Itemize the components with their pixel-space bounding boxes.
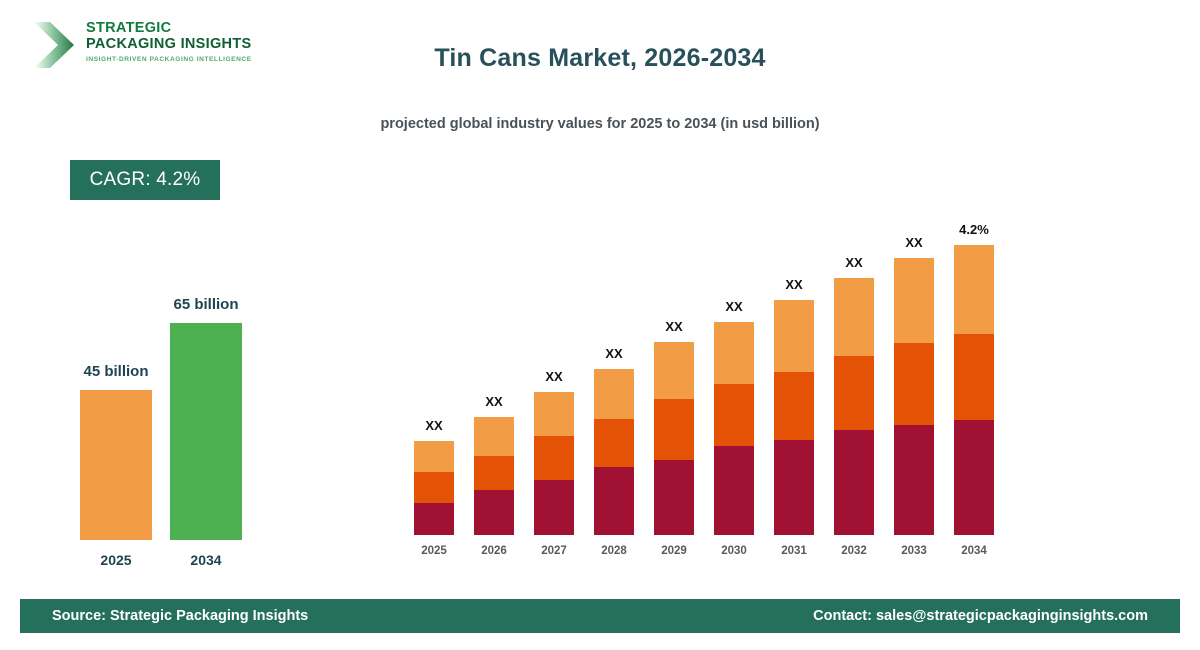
stacked-bar-value-label: XX — [384, 418, 484, 433]
footer-bar: Source: Strategic Packaging Insights Con… — [20, 599, 1180, 633]
stacked-bar-segment — [594, 369, 634, 419]
stacked-bar-value-label: 4.2% — [924, 222, 1024, 237]
stacked-bar-segment — [894, 343, 934, 425]
stacked-bar-value-label: XX — [864, 235, 964, 250]
comparison-value-label: 65 billion — [130, 296, 282, 313]
stacked-bar-segment — [954, 334, 994, 420]
stacked-bar-value-label: XX — [804, 255, 904, 270]
stacked-bar-value-label: XX — [684, 299, 784, 314]
stacked-bar-column: XX — [534, 392, 574, 535]
stacked-bar-segment — [474, 490, 514, 535]
comparison-bar — [80, 390, 152, 540]
stacked-bar-segment — [654, 399, 694, 460]
stacked-bar-value-label: XX — [564, 346, 664, 361]
stacked-bar-column: XX — [594, 369, 634, 535]
stacked-bar-column: 4.2% — [954, 245, 994, 535]
stacked-bar-value-label: XX — [744, 277, 844, 292]
comparison-chart: 45 billion202565 billion2034 — [50, 300, 300, 570]
stacked-bar-segment — [534, 436, 574, 480]
stacked-bar-segment — [654, 460, 694, 535]
cagr-badge: CAGR: 4.2% — [70, 160, 220, 200]
footer-contact: Contact: sales@strategicpackaginginsight… — [813, 599, 1148, 633]
stacked-bar-segment — [714, 384, 754, 446]
stacked-bar-value-label: XX — [504, 369, 604, 384]
stacked-bar-segment — [774, 372, 814, 440]
stacked-bar-segment — [474, 456, 514, 490]
stacked-bar-column: XX — [414, 441, 454, 535]
stacked-bar-year-label: 2034 — [924, 545, 1024, 557]
stacked-bar-segment — [714, 446, 754, 535]
stacked-bar-segment — [834, 430, 874, 535]
stacked-bar-segment — [534, 480, 574, 535]
comparison-year-label: 2034 — [170, 552, 242, 568]
stacked-bar-segment — [654, 342, 694, 399]
comparison-year-label: 2025 — [80, 552, 152, 568]
stacked-bar-value-label: XX — [624, 319, 724, 334]
stacked-bar-column: XX — [654, 342, 694, 535]
stacked-bar-value-label: XX — [444, 394, 544, 409]
stacked-bar-segment — [414, 472, 454, 503]
comparison-bar — [170, 323, 242, 540]
stacked-bar-column: XX — [474, 417, 514, 535]
stacked-bar-segment — [594, 419, 634, 467]
stacked-bar-segment — [834, 278, 874, 356]
infographic-canvas: STRATEGIC PACKAGING INSIGHTS INSIGHT-DRI… — [0, 0, 1200, 650]
stacked-bar-segment — [474, 417, 514, 456]
stacked-bar-column: XX — [774, 300, 814, 535]
stacked-bar-segment — [774, 300, 814, 372]
stacked-bar-segment — [774, 440, 814, 535]
stacked-forecast-chart: XX2025XX2026XX2027XX2028XX2029XX2030XX20… — [400, 200, 1020, 560]
stacked-bar-segment — [894, 425, 934, 535]
page-title: Tin Cans Market, 2026-2034 — [0, 44, 1200, 73]
stacked-bar-segment — [414, 503, 454, 535]
stacked-bar-segment — [834, 356, 874, 430]
stacked-bar-segment — [534, 392, 574, 436]
brand-name-line1: STRATEGIC — [86, 21, 252, 37]
footer-source: Source: Strategic Packaging Insights — [52, 599, 308, 633]
stacked-bar-column: XX — [834, 278, 874, 535]
stacked-bar-column: XX — [894, 258, 934, 535]
stacked-bar-segment — [594, 467, 634, 535]
stacked-bar-segment — [954, 420, 994, 535]
stacked-bar-segment — [414, 441, 454, 472]
stacked-bar-segment — [714, 322, 754, 384]
stacked-bar-segment — [894, 258, 934, 343]
stacked-bar-column: XX — [714, 322, 754, 535]
stacked-bar-segment — [954, 245, 994, 334]
page-subtitle: projected global industry values for 202… — [0, 116, 1200, 132]
